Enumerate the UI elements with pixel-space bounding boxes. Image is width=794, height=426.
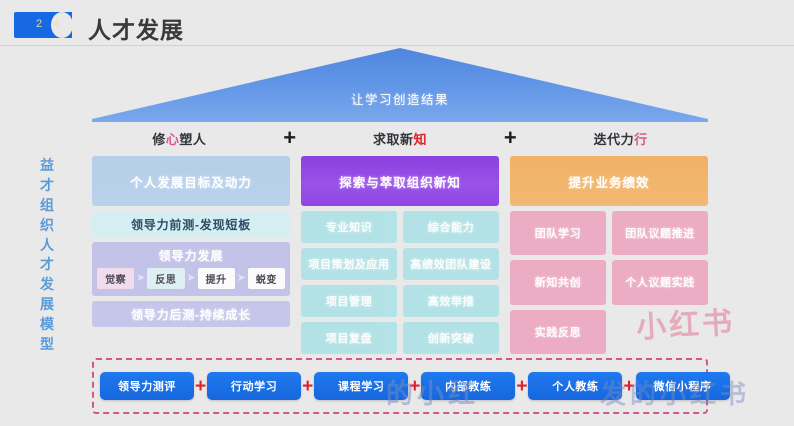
leadership-development-title: 领导力发展 [97, 247, 285, 264]
enabler-leadership-assessment[interactable]: 领导力测评 [100, 372, 194, 400]
middle-cell-5: 高效举措 [403, 285, 499, 317]
middle-cell-grid: 专业知识 综合能力 项目策划及应用 高绩效团队建设 项目管理 高效举措 项目复盘… [301, 211, 499, 354]
header-divider [0, 45, 794, 46]
pillar-1-accent: 心 [166, 132, 180, 147]
leadership-step-row: 觉察 ➤ 反思 ➤ 提升 ➤ 蜕变 [97, 268, 285, 289]
slide-header: 2 4 人才发展 [0, 0, 794, 46]
right-cell-2: 新知共创 [510, 260, 606, 304]
roof-shape: 让学习创造结果 [92, 48, 708, 122]
column-personal-development: 个人发展目标及动力 领导力前测-发现短板 领导力发展 觉察 ➤ 反思 ➤ 提升 … [92, 156, 290, 354]
roof-slogan: 让学习创造结果 [92, 89, 708, 108]
middle-cell-6: 项目复盘 [301, 322, 397, 354]
model-name-char-0: 益 [34, 156, 60, 176]
pillar-2-accent: 知 [414, 132, 428, 147]
middle-cell-2: 项目策划及应用 [301, 248, 397, 280]
enabler-internal-coach[interactable]: 内部教练 [421, 372, 515, 400]
left-column-header: 个人发展目标及动力 [92, 156, 290, 206]
step-arrow-icon-2: ➤ [185, 273, 198, 284]
right-cell-4: 实践反思 [510, 310, 606, 354]
step-reflection: 反思 [147, 268, 184, 289]
ribbon-number-label: 2 4 [36, 18, 63, 30]
pillar-plus-1: + [267, 127, 313, 149]
leadership-posttest-band: 领导力后测-持续成长 [92, 301, 290, 327]
leadership-pretest-band: 领导力前测-发现短板 [92, 211, 290, 237]
right-cell-grid: 团队学习 团队议题推进 新知共创 个人议题实践 实践反思 [510, 211, 708, 354]
enabler-plus-4: + [515, 377, 528, 396]
right-cell-0: 团队学习 [510, 211, 606, 255]
pillar-label-1: 修心塑人 [92, 129, 267, 148]
model-name-vertical: 益 才 组 织 人 才 发 展 模 型 [34, 156, 60, 355]
pillar-3-accent: 行 [634, 132, 648, 147]
enabler-action-learning[interactable]: 行动学习 [207, 372, 301, 400]
pillar-3-prefix: 迭代力 [594, 132, 635, 147]
enabler-plus-5: + [622, 377, 635, 396]
step-transformation: 蜕变 [248, 268, 285, 289]
model-name-char-5: 才 [34, 255, 60, 275]
model-name-char-1: 才 [34, 176, 60, 196]
model-name-char-4: 人 [34, 236, 60, 256]
model-name-char-9: 型 [34, 335, 60, 355]
middle-cell-1: 综合能力 [403, 211, 499, 243]
pillar-label-row: 修心塑人 + 求取新知 + 迭代力行 [92, 124, 708, 152]
page-title: 人才发展 [88, 11, 184, 45]
right-cell-1: 团队议题推进 [612, 211, 708, 255]
middle-column-header: 探索与萃取组织新知 [301, 156, 499, 206]
column-business-performance: 提升业务绩效 团队学习 团队议题推进 新知共创 个人议题实践 实践反思 [510, 156, 708, 354]
pillar-1-prefix: 修 [152, 132, 166, 147]
middle-cell-7: 创新突破 [403, 322, 499, 354]
model-name-char-3: 织 [34, 216, 60, 236]
model-name-char-8: 模 [34, 315, 60, 335]
model-name-char-7: 展 [34, 295, 60, 315]
step-improvement: 提升 [198, 268, 235, 289]
pillar-columns: 个人发展目标及动力 领导力前测-发现短板 领导力发展 觉察 ➤ 反思 ➤ 提升 … [92, 156, 708, 354]
pillar-2-prefix: 求取新 [373, 132, 414, 147]
enabler-plus-3: + [408, 377, 421, 396]
slide-canvas: 2 4 人才发展 让学习创造结果 修心塑人 + 求取新知 + 迭代力行 益 才 … [0, 0, 794, 426]
enabler-plus-2: + [301, 377, 314, 396]
middle-cell-0: 专业知识 [301, 211, 397, 243]
column-organizational-knowledge: 探索与萃取组织新知 专业知识 综合能力 项目策划及应用 高绩效团队建设 项目管理… [301, 156, 499, 354]
step-arrow-icon-3: ➤ [235, 273, 248, 284]
step-awareness: 觉察 [97, 268, 134, 289]
model-name-char-6: 发 [34, 275, 60, 295]
enablers-dashed-container: 领导力测评 + 行动学习 + 课程学习 + 内部教练 + 个人教练 + 微信小程… [92, 358, 708, 414]
enabler-course-learning[interactable]: 课程学习 [314, 372, 408, 400]
step-arrow-icon-1: ➤ [134, 273, 147, 284]
enabler-personal-coach[interactable]: 个人教练 [528, 372, 622, 400]
right-cell-3: 个人议题实践 [612, 260, 708, 304]
model-name-char-2: 组 [34, 196, 60, 216]
middle-cell-4: 项目管理 [301, 285, 397, 317]
enabler-wechat-miniprogram[interactable]: 微信小程序 [636, 372, 730, 400]
middle-cell-3: 高绩效团队建设 [403, 248, 499, 280]
enabler-plus-1: + [194, 377, 207, 396]
leadership-development-block: 领导力发展 觉察 ➤ 反思 ➤ 提升 ➤ 蜕变 [92, 242, 290, 296]
pillar-1-suffix: 塑人 [179, 132, 206, 147]
pillar-label-3: 迭代力行 [533, 129, 708, 148]
pillar-label-2: 求取新知 [313, 129, 488, 148]
pillar-plus-2: + [487, 127, 533, 149]
roof-triangle-icon [92, 48, 708, 122]
right-column-header: 提升业务绩效 [510, 156, 708, 206]
